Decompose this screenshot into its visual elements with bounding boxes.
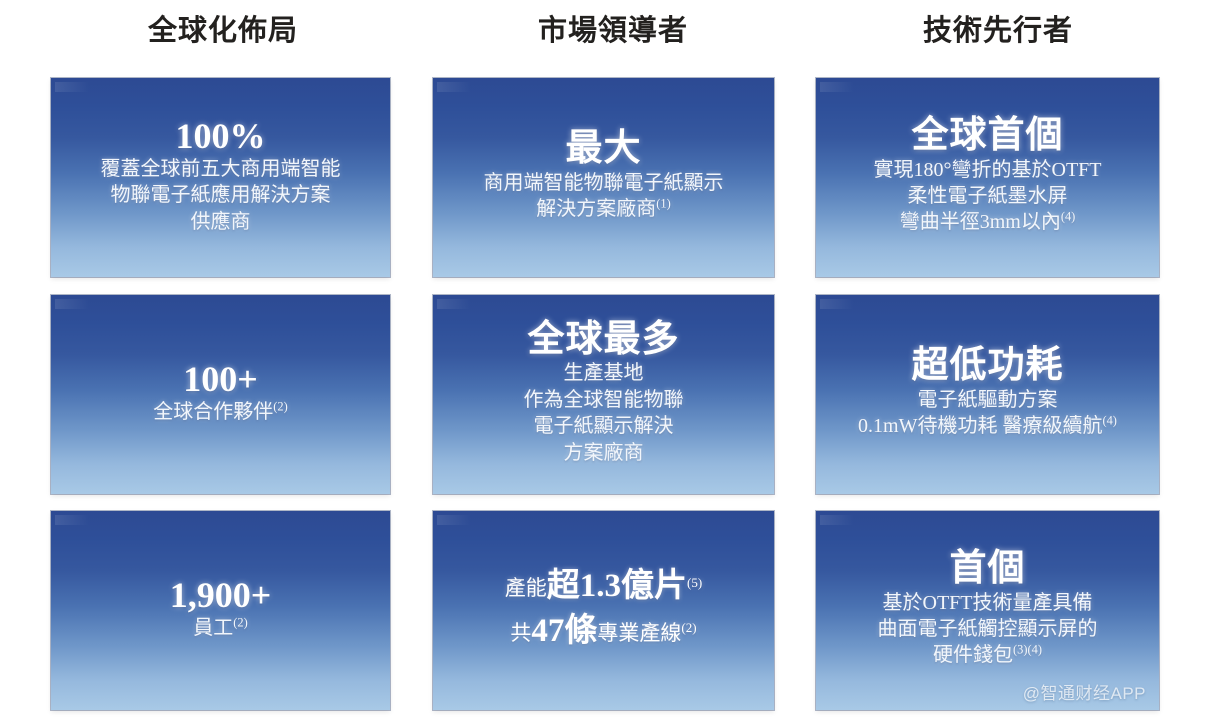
stat-line-text: 供應商 [191,211,251,233]
stat-line: 商用端智能物聯電子紙顯示 [484,170,724,196]
stat-line: 彎曲半徑3mm以內(4) [874,209,1102,235]
stat-line: 電子紙驅動方案 [858,387,1117,413]
stat-description: 商用端智能物聯電子紙顯示 解決方案廠商(1) [484,170,724,223]
stat-line-text: 0.1mW待機功耗 醫療級續航 [858,415,1102,437]
stat-headline: 100% [176,116,266,156]
stat-line: 供應商 [101,209,341,235]
column-header-globalization: 全球化佈局 [28,10,418,60]
stat-card-worlds-first-flexible: 全球首個 實現180°彎折的基於OTFT 柔性電子紙墨水屏 彎曲半徑3mm以內(… [816,78,1159,277]
stat-card-capacity: 產能超1.3億片(5) 共47條專業產線(2) [433,511,774,710]
lines-suffix: 專業產線 [597,621,681,645]
capacity-line-1: 產能超1.3億片(5) [505,564,702,608]
footnote-marker: (2) [681,620,696,635]
footnote-marker: (2) [233,616,247,630]
footnote-marker: (1) [656,197,670,211]
stat-card-largest-supplier: 最大 商用端智能物聯電子紙顯示 解決方案廠商(1) [433,78,774,277]
stats-row-1: 100% 覆蓋全球前五大商用端智能 物聯電子紙應用解決方案 供應商 最大 商用端… [51,78,1159,278]
stat-headline: 全球首個 [912,115,1064,156]
capacity-value: 超1.3億片 [547,568,687,604]
stat-line-text: 彎曲半徑3mm以內 [900,211,1061,233]
stat-headline: 1,900+ [170,575,272,615]
stat-description: 電子紙驅動方案 0.1mW待機功耗 醫療級續航(4) [858,387,1117,440]
stat-line: 0.1mW待機功耗 醫療級續航(4) [858,413,1117,439]
stat-line: 曲面電子紙觸控顯示屏的 [878,616,1098,642]
column-header-tech-pioneer: 技術先行者 [808,10,1188,60]
stat-line: 生產基地 [524,360,684,386]
stat-line: 柔性電子紙墨水屏 [874,183,1102,209]
stat-headline: 100+ [183,359,258,399]
stat-description: 覆蓋全球前五大商用端智能 物聯電子紙應用解決方案 供應商 [101,156,341,235]
stat-line-text: 全球合作夥伴 [153,401,273,423]
stat-line: 方案廠商 [524,440,684,466]
stat-headline: 最大 [566,128,642,169]
column-headers: 全球化佈局 市場領導者 技術先行者 [0,10,1211,60]
stat-line-text: 員工 [193,617,233,639]
stat-line: 覆蓋全球前五大商用端智能 [101,156,341,182]
stat-line: 員工(2) [193,615,247,641]
column-header-market-leader: 市場領導者 [418,10,808,60]
stat-description: 生產基地 作為全球智能物聯 電子紙顯示解決 方案廠商 [524,360,684,466]
stat-description: 全球合作夥伴(2) [153,399,287,425]
lines-value: 47條 [531,613,597,649]
stat-card-first-hardware-wallet: 首個 基於OTFT技術量產具備 曲面電子紙觸控顯示屏的 硬件錢包(3)(4) @… [816,511,1159,710]
stat-card-partners: 100+ 全球合作夥伴(2) [51,295,390,494]
infographic-board: 全球化佈局 市場領導者 技術先行者 100% 覆蓋全球前五大商用端智能 物聯電子… [0,0,1211,720]
lines-prefix: 共 [510,621,531,645]
stat-line: 基於OTFT技術量產具備 [878,590,1098,616]
stat-headline: 超低功耗 [912,345,1064,386]
footnote-marker: (4) [1102,414,1116,428]
stat-headline: 首個 [950,548,1026,589]
footnote-marker: (4) [1061,210,1075,224]
stat-line: 解決方案廠商(1) [484,196,724,222]
stat-card-employees: 1,900+ 員工(2) [51,511,390,710]
stat-description: 員工(2) [193,615,247,641]
stats-row-3: 1,900+ 員工(2) 產能超1.3億片(5) 共47條專業產線(2) [51,511,1159,711]
stat-headline: 全球最多 [528,319,680,360]
stat-line-text: 硬件錢包 [933,644,1013,666]
stat-line: 作為全球智能物聯 [524,387,684,413]
stat-card-most-production-bases: 全球最多 生產基地 作為全球智能物聯 電子紙顯示解決 方案廠商 [433,295,774,494]
stat-description: 基於OTFT技術量產具備 曲面電子紙觸控顯示屏的 硬件錢包(3)(4) [878,590,1098,669]
capacity-line-2: 共47條專業產線(2) [510,609,696,653]
footnote-marker: (5) [687,575,702,590]
stat-card-coverage: 100% 覆蓋全球前五大商用端智能 物聯電子紙應用解決方案 供應商 [51,78,390,277]
stat-line: 實現180°彎折的基於OTFT [874,157,1102,183]
stats-card-grid: 100% 覆蓋全球前五大商用端智能 物聯電子紙應用解決方案 供應商 最大 商用端… [51,78,1159,704]
stat-description: 實現180°彎折的基於OTFT 柔性電子紙墨水屏 彎曲半徑3mm以內(4) [874,157,1102,236]
stats-row-2: 100+ 全球合作夥伴(2) 全球最多 生產基地 作為全球智能物聯 電子紙顯示解… [51,295,1159,495]
stat-line: 硬件錢包(3)(4) [878,642,1098,668]
stat-line: 物聯電子紙應用解決方案 [101,182,341,208]
capacity-prefix: 產能 [505,576,547,600]
stat-line-text: 解決方案廠商 [536,198,656,220]
stat-line: 全球合作夥伴(2) [153,399,287,425]
stat-card-ultra-low-power: 超低功耗 電子紙驅動方案 0.1mW待機功耗 醫療級續航(4) [816,295,1159,494]
stat-line: 電子紙顯示解決 [524,413,684,439]
footnote-marker: (3)(4) [1013,643,1042,657]
footnote-marker: (2) [273,400,287,414]
